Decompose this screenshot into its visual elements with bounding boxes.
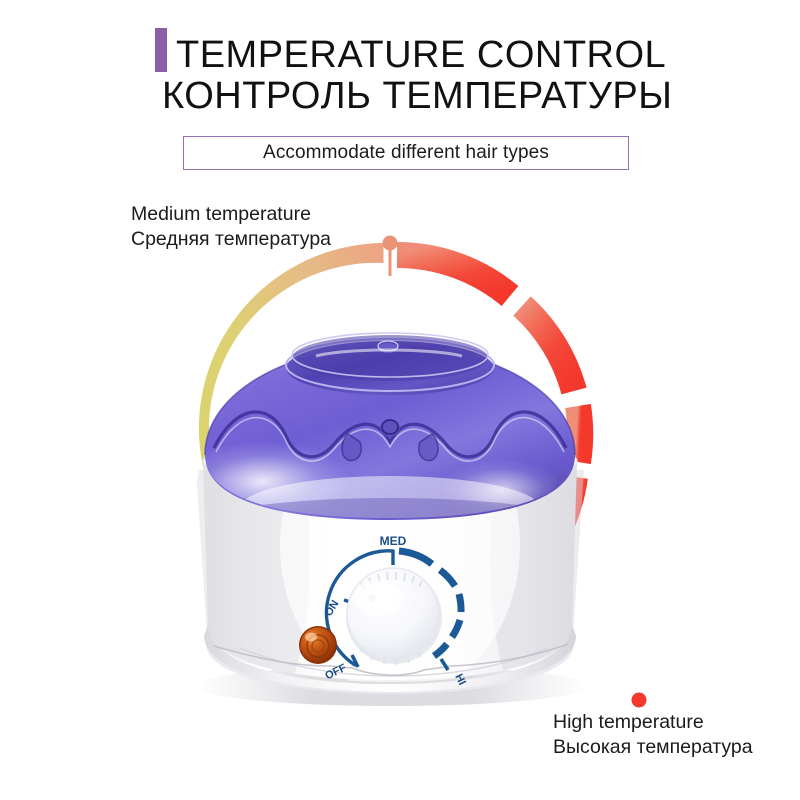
callout-high-temperature: High temperature Высокая температура (553, 710, 753, 760)
callout-high-english: High temperature (553, 710, 753, 735)
callout-medium-temperature: Medium temperature Средняя температура (131, 202, 331, 252)
subtitle-banner: Accommodate different hair types (183, 136, 629, 170)
title-accent-bar (155, 28, 167, 72)
page-title: TEMPERATURE CONTROL КОНТРОЛЬ ТЕМПЕРАТУРЫ (176, 36, 776, 116)
title-english: TEMPERATURE CONTROL (176, 36, 776, 75)
wax-warmer-product-image: MED ON OFF HI (0, 0, 800, 800)
power-indicator-light (299, 626, 337, 664)
subtitle-text: Accommodate different hair types (263, 142, 549, 164)
infographic-canvas: MED ON OFF HI (0, 0, 800, 800)
callout-medium-russian: Средняя температура (131, 227, 331, 252)
dial-label-med: MED (380, 534, 407, 548)
title-russian: КОНТРОЛЬ ТЕМПЕРАТУРЫ (162, 77, 776, 116)
callout-medium-english: Medium temperature (131, 202, 331, 227)
callout-high-russian: Высокая температура (553, 735, 753, 760)
